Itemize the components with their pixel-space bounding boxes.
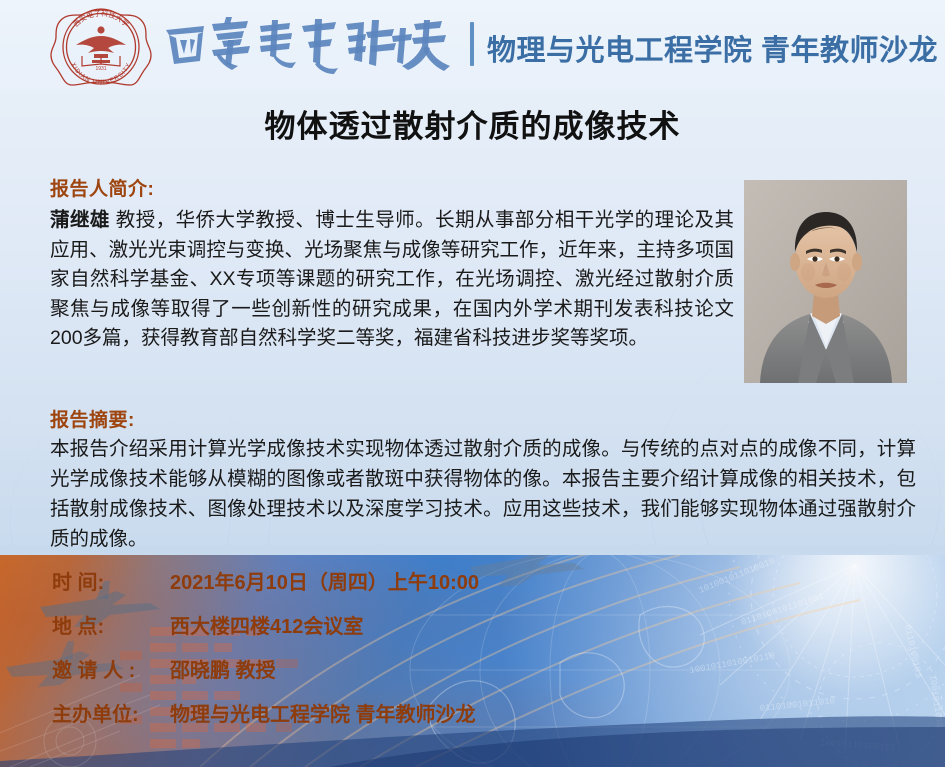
page-title: 物体透过散射介质的成像技术 <box>0 101 945 146</box>
detail-label-time: 时 间: <box>52 566 170 595</box>
speaker-name: 蒲继雄 <box>50 209 110 231</box>
detail-value-time: 2021年6月10日（周四）上午10:00 <box>170 566 479 595</box>
poster-root: 101001011010010 0110100101101001 1001011… <box>0 0 945 767</box>
speaker-section-heading: 报告人简介: <box>50 174 154 201</box>
svg-text:0110100101101001: 0110100101101001 <box>740 592 825 628</box>
svg-text:01101001011010: 01101001011010 <box>759 696 835 714</box>
detail-label-inviter: 邀 请 人 : <box>52 654 170 683</box>
abstract-section-heading: 报告摘要: <box>50 405 135 432</box>
svg-text:西安电子科技大学: 西安电子科技大学 <box>72 9 131 29</box>
detail-label-organizer: 主办单位: <box>52 698 170 727</box>
detail-row-location: 地 点: 西大楼四楼412会议室 <box>52 610 672 639</box>
abstract-text: 本报告介绍采用计算光学成像技术实现物体透过散射介质的成像。与传统的点对点的成像不… <box>50 434 916 554</box>
detail-row-organizer: 主办单位: 物理与光电工程学院 青年教师沙龙 <box>52 698 672 727</box>
header-divider <box>470 22 474 66</box>
event-details: 时 间: 2021年6月10日（周四）上午10:00 地 点: 西大楼四楼412… <box>52 566 672 742</box>
detail-value-location: 西大楼四楼412会议室 <box>170 610 363 639</box>
svg-text:0110100101: 0110100101 <box>902 624 923 679</box>
xidian-university-logo-icon: 西安电子科技大学 XIDIAN UNIVERSITY 1931 <box>42 6 160 88</box>
department-title: 物理与光电工程学院 青年教师沙龙 <box>487 27 938 69</box>
logo-year: 1931 <box>95 66 106 72</box>
svg-text:10010110100101: 10010110100101 <box>820 738 896 753</box>
svg-text:1001011010010110: 1001011010010110 <box>689 651 776 676</box>
detail-value-inviter: 邵晓鹏 教授 <box>170 654 276 683</box>
detail-value-organizer: 物理与光电工程学院 青年教师沙龙 <box>170 698 476 727</box>
detail-label-location: 地 点: <box>52 610 170 639</box>
svg-text:1001011010: 1001011010 <box>927 674 944 729</box>
detail-row-inviter: 邀 请 人 : 邵晓鹏 教授 <box>52 654 672 683</box>
university-name-calligraphy <box>160 14 460 76</box>
bio-photo-spacer <box>734 206 912 392</box>
speaker-bio: 蒲继雄 教授，华侨大学教授、博士生导师。长期从事部分相干光学的理论及其应用、激光… <box>50 206 912 396</box>
speaker-bio-text: 教授，华侨大学教授、博士生导师。长期从事部分相干光学的理论及其应用、激光光束调控… <box>50 209 734 349</box>
svg-text:101001011010010: 101001011010010 <box>697 556 776 596</box>
poster-header: 西安电子科技大学 XIDIAN UNIVERSITY 1931 <box>0 0 945 90</box>
detail-row-time: 时 间: 2021年6月10日（周四）上午10:00 <box>52 566 672 595</box>
